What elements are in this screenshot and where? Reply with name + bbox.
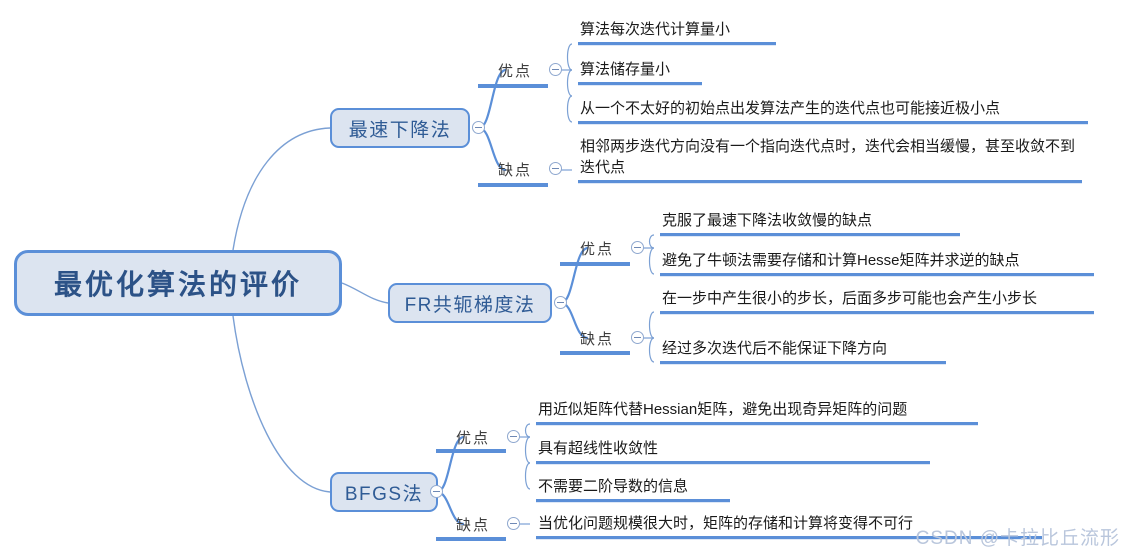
collapse-toggle-icon[interactable]: [554, 296, 567, 309]
collapse-toggle-icon[interactable]: [631, 241, 644, 254]
leaf-item[interactable]: 具有超线性收敛性: [538, 438, 658, 459]
branch-node-label: 最速下降法: [349, 115, 452, 142]
category-label-cons: 缺点: [498, 159, 532, 180]
root-node-label: 最优化算法的评价: [54, 263, 302, 303]
collapse-toggle-icon[interactable]: [549, 162, 562, 175]
collapse-toggle-icon[interactable]: [472, 121, 485, 134]
collapse-toggle-icon[interactable]: [507, 430, 520, 443]
leaf-item[interactable]: 在一步中产生很小的步长，后面多步可能也会产生小步长: [662, 288, 1037, 309]
collapse-toggle-icon[interactable]: [631, 331, 644, 344]
leaf-item[interactable]: 克服了最速下降法收敛慢的缺点: [662, 210, 872, 231]
leaf-item[interactable]: 算法每次迭代计算量小: [580, 19, 730, 40]
leaf-item[interactable]: 不需要二阶导数的信息: [538, 476, 688, 497]
root-node[interactable]: 最优化算法的评价: [14, 250, 342, 316]
category-label-pros: 优点: [498, 60, 532, 81]
leaf-item[interactable]: 算法储存量小: [580, 59, 670, 80]
leaf-item[interactable]: 当优化问题规模很大时，矩阵的存储和计算将变得不可行: [538, 513, 913, 534]
leaf-item[interactable]: 从一个不太好的初始点出发算法产生的迭代点也可能接近极小点: [580, 98, 1000, 119]
branch-node-label: BFGS法: [345, 479, 423, 506]
collapse-toggle-icon[interactable]: [507, 517, 520, 530]
category-label-pros: 优点: [580, 238, 614, 259]
category-label-pros: 优点: [456, 427, 490, 448]
leaf-item[interactable]: 用近似矩阵代替Hessian矩阵，避免出现奇异矩阵的问题: [538, 399, 907, 420]
leaf-item[interactable]: 经过多次迭代后不能保证下降方向: [662, 338, 887, 359]
mindmap-canvas: 最优化算法的评价 最速下降法 优点 缺点 算法每次迭代计算量小 算法储存量小 从…: [0, 0, 1126, 554]
category-label-cons: 缺点: [580, 328, 614, 349]
leaf-item[interactable]: 相邻两步迭代方向没有一个指向迭代点时，迭代会相当缓慢，甚至收敛不到迭代点: [580, 136, 1086, 178]
collapse-toggle-icon[interactable]: [549, 63, 562, 76]
category-label-cons: 缺点: [456, 514, 490, 535]
leaf-item[interactable]: 避免了牛顿法需要存储和计算Hesse矩阵并求逆的缺点: [662, 250, 1020, 271]
branch-node-steepest-descent[interactable]: 最速下降法: [330, 108, 470, 148]
branch-node-label: FR共轭梯度法: [405, 290, 536, 317]
branch-node-fr-conjugate-gradient[interactable]: FR共轭梯度法: [388, 283, 552, 323]
branch-node-bfgs[interactable]: BFGS法: [330, 472, 438, 512]
collapse-toggle-icon[interactable]: [430, 485, 443, 498]
